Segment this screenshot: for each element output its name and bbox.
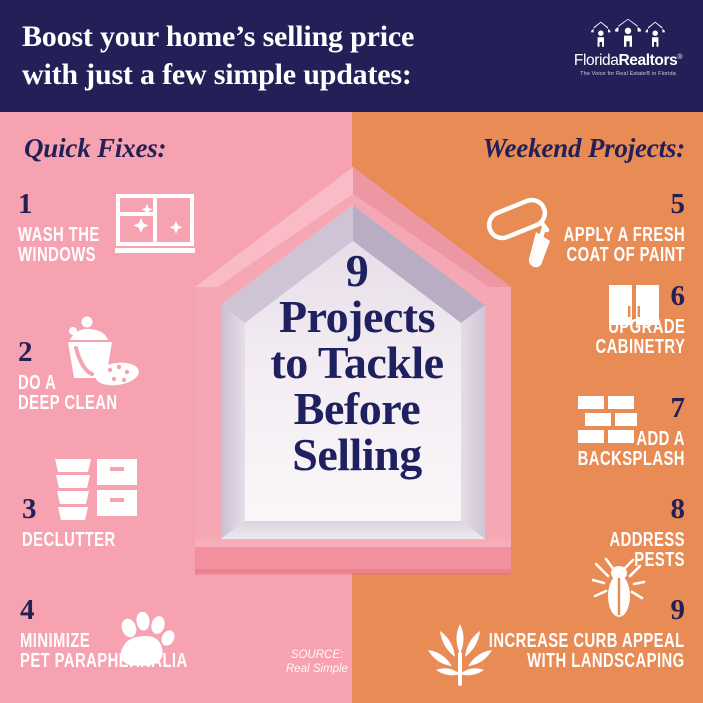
header-bar: Boost your home’s selling price with jus… (0, 0, 703, 112)
list-item-8-number: 8 (583, 495, 685, 524)
list-item-5[interactable]: 5 APPLY A FRESH COAT OF PAINT (521, 190, 685, 266)
list-item-4-number: 4 (20, 596, 247, 625)
list-item-9-label-line-2: WITH LANDSCAPING (489, 651, 685, 671)
center-title-line-4: Before (222, 386, 492, 432)
list-item-6-label-line-1: UPGRADE (595, 317, 685, 337)
source-credit: SOURCE: Real Simple (252, 648, 382, 677)
list-item-4-label-line-1: MINIMIZE (20, 631, 188, 651)
logo-name-part1: Florida (574, 52, 619, 69)
list-item-5-label-line-2: COAT OF PAINT (564, 245, 685, 265)
header-title-line-2: with just a few simple updates: (22, 56, 542, 94)
list-item-9-label-line-1: INCREASE CURB APPEAL (489, 631, 685, 651)
logo-registered-mark: ® (677, 54, 682, 61)
list-item-6-label-line-2: CABINETRY (595, 337, 685, 357)
two-houses-people-icon (580, 18, 676, 50)
center-title: 9 Projects to Tackle Before Selling (222, 248, 492, 478)
list-item-9-number: 9 (420, 596, 685, 625)
list-item-3[interactable]: 3 DECLUTTER (22, 495, 149, 550)
list-item-3-label-line-1: DECLUTTER (22, 530, 116, 550)
list-item-8-label-line-2: PESTS (610, 550, 685, 570)
source-label: SOURCE: (252, 648, 382, 662)
right-column-heading: Weekend Projects: (483, 133, 685, 164)
list-item-7-label-line-1: ADD A (578, 429, 685, 449)
list-item-8[interactable]: 8 ADDRESS PESTS (583, 495, 685, 571)
list-item-6[interactable]: 6 UPGRADE CABINETRY (564, 282, 685, 358)
list-item-1-label-line-1: WASH THE (18, 225, 100, 245)
list-item-3-number: 3 (22, 495, 149, 524)
header-title: Boost your home’s selling price with jus… (22, 18, 542, 94)
list-item-7-number: 7 (540, 394, 685, 423)
list-item-7-label-line-2: BACKSPLASH (578, 449, 685, 469)
list-item-1-label-line-2: WINDOWS (18, 245, 100, 265)
list-item-2-label-line-2: DEEP CLEAN (18, 393, 118, 413)
center-title-line-3: to Tackle (222, 340, 492, 386)
logo-tagline: The Voice for Real Estate® in Florida (569, 72, 687, 78)
center-title-line-2: Projects (222, 294, 492, 340)
florida-realtors-logo[interactable]: FloridaRealtors® The Voice for Real Esta… (569, 18, 687, 94)
list-item-1[interactable]: 1 WASH THE WINDOWS (18, 190, 128, 266)
list-item-4[interactable]: 4 MINIMIZE PET PARAPHERNALIA (20, 596, 247, 672)
source-name: Real Simple (252, 662, 382, 676)
list-item-4-label-line-2: PET PARAPHERNALIA (20, 651, 188, 671)
logo-name-part2: Realtors (618, 52, 677, 69)
list-item-2-number: 2 (18, 338, 153, 367)
list-item-9[interactable]: 9 INCREASE CURB APPEAL WITH LANDSCAPING (420, 596, 685, 672)
center-title-line-5: Selling (222, 432, 492, 478)
list-item-1-number: 1 (18, 190, 128, 219)
header-title-line-1: Boost your home’s selling price (22, 18, 542, 56)
infographic-poster: Boost your home’s selling price with jus… (0, 0, 703, 703)
list-item-7[interactable]: 7 ADD A BACKSPLASH (540, 394, 685, 470)
list-item-5-label-line-1: APPLY A FRESH (564, 225, 685, 245)
list-item-8-label-line-1: ADDRESS (610, 530, 685, 550)
center-title-line-1: 9 (222, 248, 492, 294)
list-item-2-label-line-1: DO A (18, 373, 118, 393)
list-item-6-number: 6 (564, 282, 685, 311)
logo-wordmark: FloridaRealtors® (569, 53, 687, 69)
left-column-heading: Quick Fixes: (24, 133, 166, 164)
list-item-5-number: 5 (521, 190, 685, 219)
list-item-2[interactable]: 2 DO A DEEP CLEAN (18, 338, 153, 414)
